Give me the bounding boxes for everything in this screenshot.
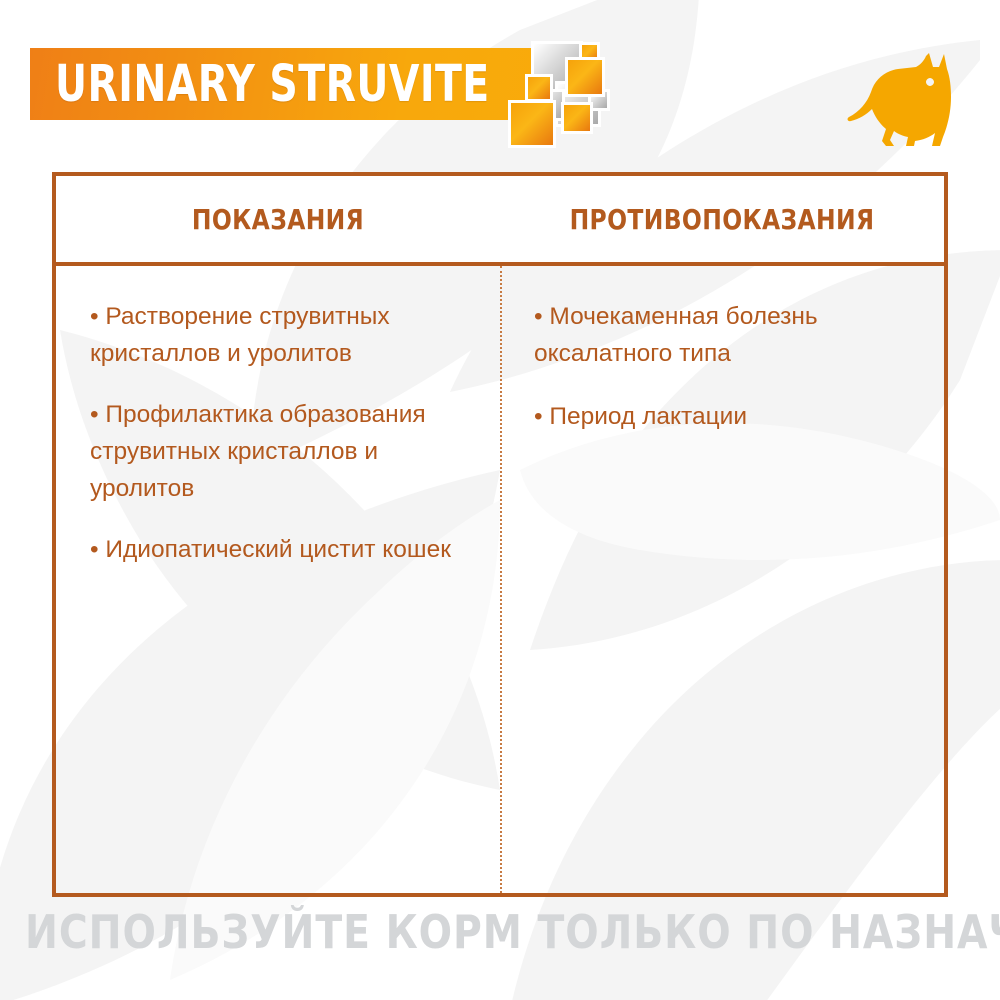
table-body: • Растворение струвитных кристаллов и ур… <box>56 266 944 893</box>
poster-canvas: URINARY STRUVITE ПОКАЗАНИЯ ПРОТИВОПОКАЗА… <box>0 0 1000 1000</box>
mosaic-square-orange-1 <box>582 45 597 60</box>
list-item: • Профилактика образования струвитных кр… <box>90 396 466 507</box>
indications-column: • Растворение струвитных кристаллов и ур… <box>56 266 500 893</box>
comparison-table: ПОКАЗАНИЯ ПРОТИВОПОКАЗАНИЯ • Растворение… <box>52 172 948 897</box>
list-item: • Мочекаменная болезнь оксалатного типа <box>534 298 910 372</box>
column-header-indications: ПОКАЗАНИЯ <box>72 176 485 262</box>
cat-silhouette-icon <box>840 45 960 155</box>
table-header-row: ПОКАЗАНИЯ ПРОТИВОПОКАЗАНИЯ <box>56 176 944 266</box>
column-divider <box>500 266 502 893</box>
footer-disclaimer: ИСПОЛЬЗУЙТЕ КОРМ ТОЛЬКО ПО НАЗНАЧЕНИЮ ВР… <box>25 905 975 959</box>
list-item: • Растворение струвитных кристаллов и ур… <box>90 298 466 372</box>
contraindications-column: • Мочекаменная болезнь оксалатного типа … <box>500 266 944 893</box>
page-title: URINARY STRUVITE <box>55 60 490 110</box>
list-item: • Период лактации <box>534 398 910 435</box>
mosaic-square-orange-2 <box>568 60 602 94</box>
mosaic-square-orange-5 <box>564 105 590 131</box>
mosaic-square-orange-3 <box>528 77 550 99</box>
mosaic-square-orange-4 <box>511 103 553 145</box>
mosaic-squares <box>520 40 640 155</box>
mosaic-square-grey-4 <box>591 92 607 108</box>
column-header-contraindications: ПРОТИВОПОКАЗАНИЯ <box>516 176 929 262</box>
list-item: • Идиопатический цистит кошек <box>90 531 466 568</box>
